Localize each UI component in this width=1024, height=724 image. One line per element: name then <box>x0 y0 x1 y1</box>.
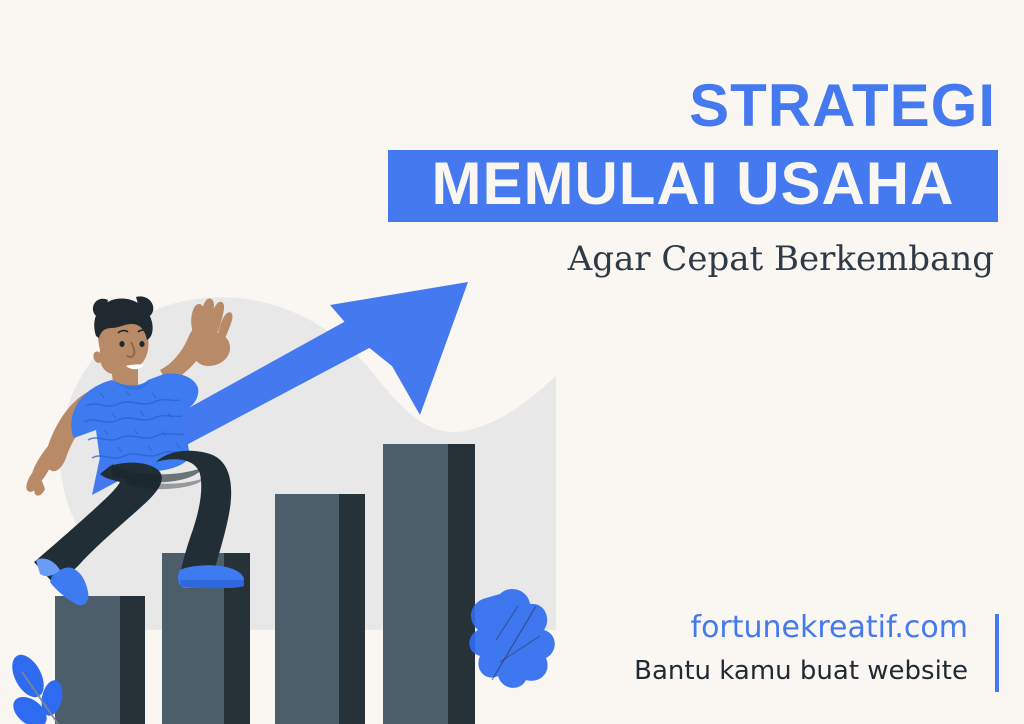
footer-divider <box>995 614 999 692</box>
bar-4 <box>383 444 475 724</box>
footer-domain[interactable]: fortunekreatif.com <box>634 608 968 648</box>
subtitle: Agar Cepat Berkembang <box>388 236 998 282</box>
footer-tagline: Bantu kamu buat website <box>634 652 968 690</box>
title-line-1: STRATEGI <box>388 70 998 142</box>
hero-illustration <box>0 280 560 724</box>
poster-canvas: STRATEGI MEMULAI USAHA Agar Cepat Berkem… <box>0 0 1024 724</box>
bar-3 <box>275 494 365 724</box>
footer-block: fortunekreatif.com Bantu kamu buat websi… <box>634 608 968 690</box>
title-highlight-bar: MEMULAI USAHA <box>388 150 998 222</box>
headline-block: STRATEGI MEMULAI USAHA Agar Cepat Berkem… <box>388 70 998 282</box>
bar-1 <box>55 596 145 724</box>
title-line-2: MEMULAI USAHA <box>432 154 955 214</box>
